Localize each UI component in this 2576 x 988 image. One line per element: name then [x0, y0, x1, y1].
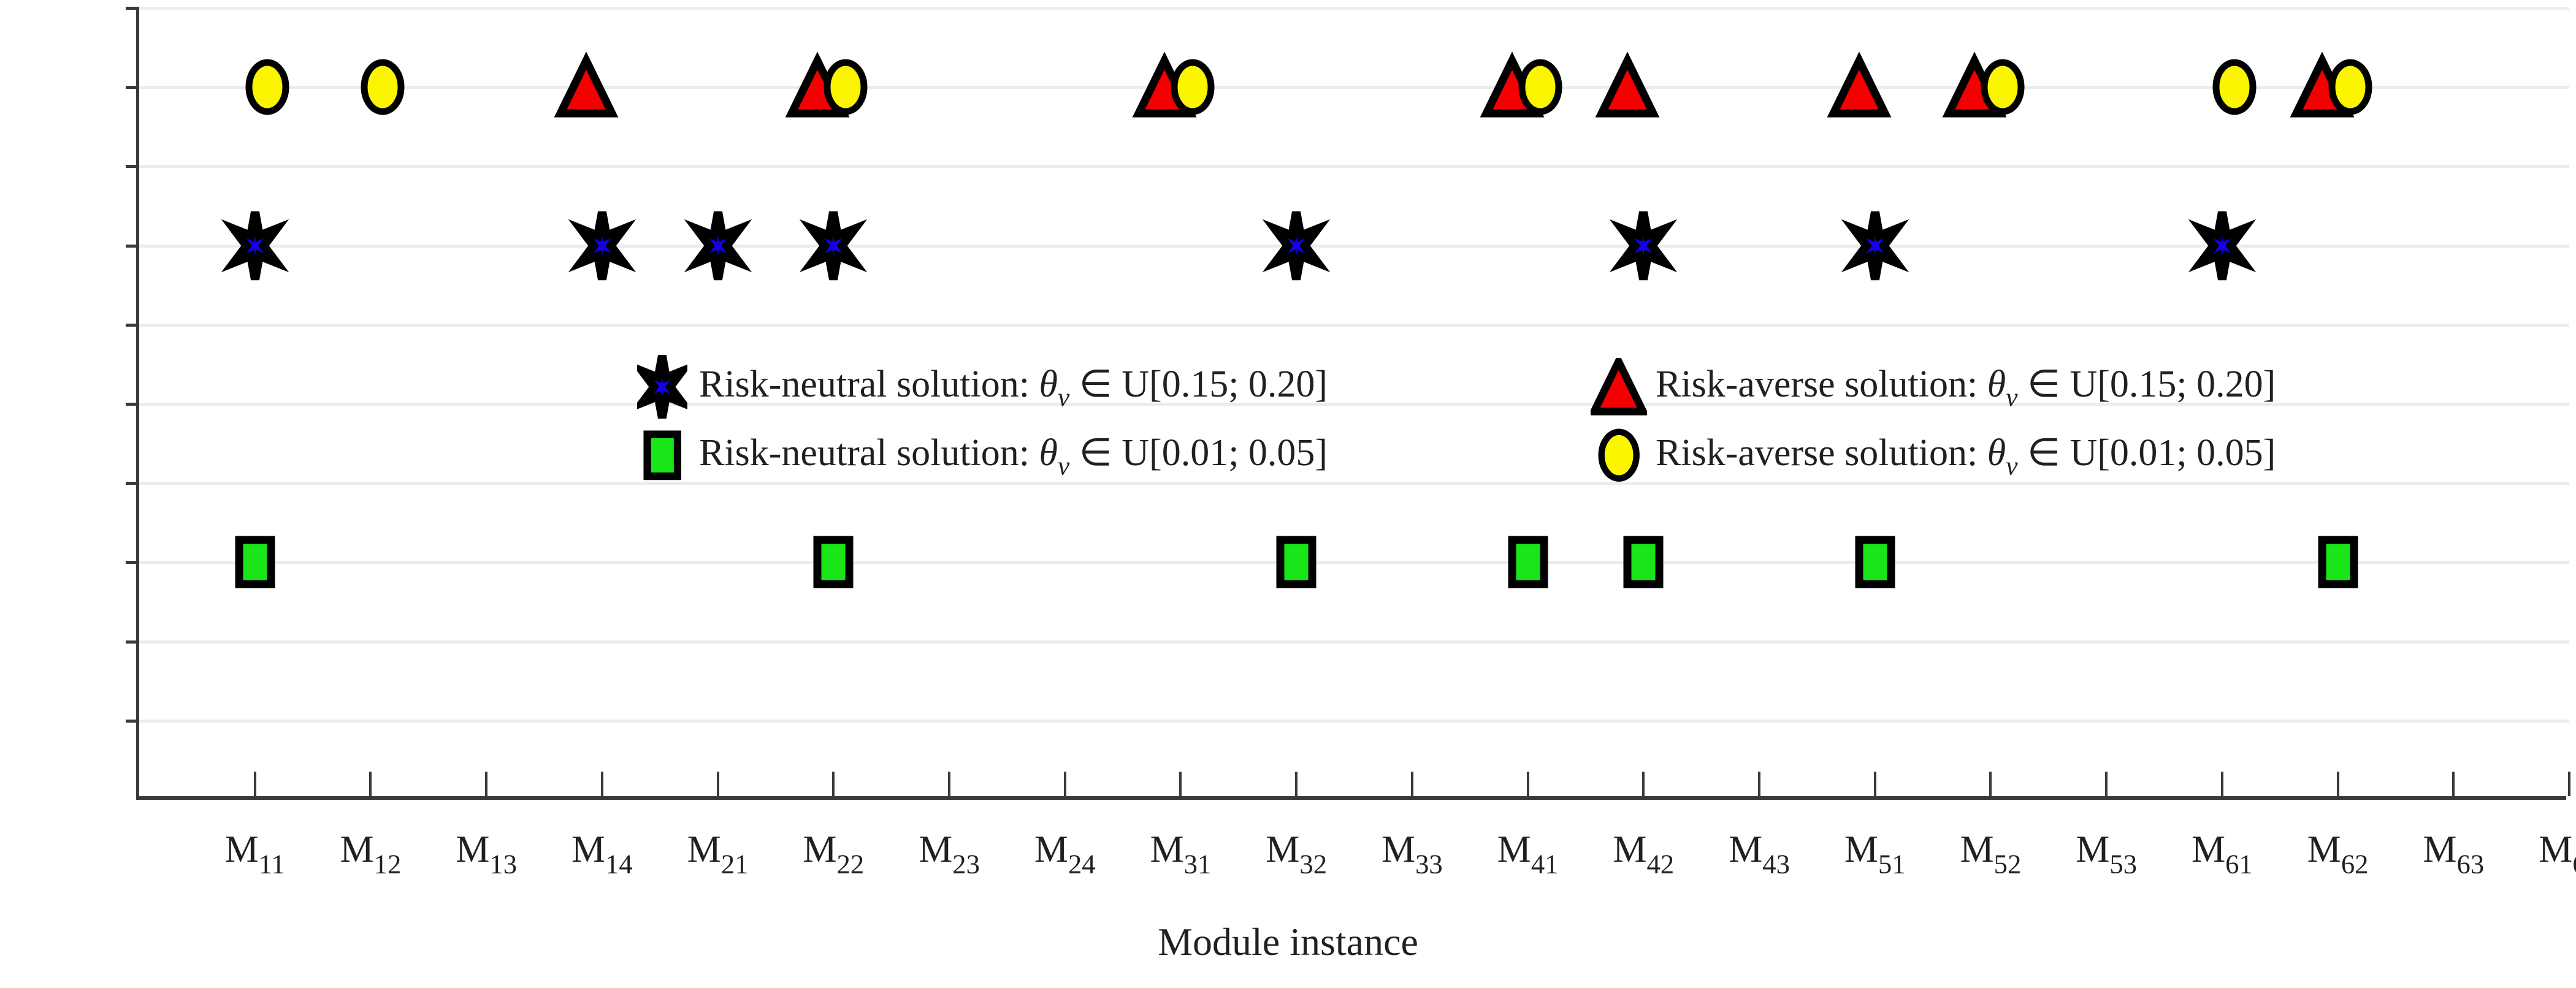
square-marker — [1855, 536, 1895, 588]
x-axis-tick — [1758, 772, 1760, 796]
circle-marker — [2328, 59, 2372, 115]
legend-entry[interactable]: Risk-averse solution: θv ∈ U[0.01; 0.05] — [1582, 428, 2539, 482]
gridline — [139, 640, 2569, 644]
star6-marker — [229, 212, 281, 279]
triangle-marker — [557, 57, 616, 117]
triangle-marker — [1582, 358, 1656, 415]
x-axis-tick — [2105, 772, 2108, 796]
star6-marker — [807, 212, 860, 279]
gridline — [139, 86, 2569, 89]
square-marker — [2318, 536, 2358, 588]
legend-row: Risk-neutral solution: θv ∈ U[0.01; 0.05… — [625, 421, 2539, 490]
x-axis-tick — [601, 772, 603, 796]
y-axis-tick — [126, 245, 139, 248]
square-marker — [625, 430, 699, 481]
y-axis-tick — [126, 720, 139, 723]
square-marker — [1276, 536, 1317, 588]
circle-marker — [1981, 59, 2025, 115]
star6-marker — [1849, 212, 1901, 279]
star6-marker — [1617, 212, 1670, 279]
gridline — [139, 720, 2569, 723]
x-axis-tick-label: M63 — [2490, 829, 2576, 884]
chart-figure: Supply volume (%) 0102030405060708090100… — [0, 0, 2576, 988]
x-axis-tick — [2337, 772, 2339, 796]
chart-legend: Risk-neutral solution: θv ∈ U[0.15; 0.20… — [625, 352, 2539, 490]
gridline — [139, 324, 2569, 327]
square-marker — [235, 536, 275, 588]
x-axis-tick — [1874, 772, 1876, 796]
x-axis-tick — [485, 772, 487, 796]
circle-marker — [245, 59, 289, 115]
x-axis-tick — [1411, 772, 1413, 796]
x-axis-tick — [832, 772, 835, 796]
legend-entry[interactable]: Risk-neutral solution: θv ∈ U[0.01; 0.05… — [625, 430, 1582, 482]
circle-marker — [2212, 59, 2257, 115]
circle-marker — [1582, 428, 1656, 482]
x-axis-tick — [1295, 772, 1298, 796]
gridline — [139, 7, 2569, 10]
x-axis-tick — [1527, 772, 1529, 796]
x-axis-tick — [717, 772, 719, 796]
x-axis-tick — [254, 772, 256, 796]
legend-label: Risk-averse solution: θv ∈ U[0.15; 0.20] — [1656, 361, 2276, 413]
square-marker — [813, 536, 854, 588]
circle-marker — [824, 59, 868, 115]
star6-marker — [692, 212, 744, 279]
legend-row: Risk-neutral solution: θv ∈ U[0.15; 0.20… — [625, 352, 2539, 421]
x-axis-tick — [1989, 772, 1992, 796]
star6-marker — [576, 212, 629, 279]
square-marker — [1508, 536, 1548, 588]
y-axis-tick — [126, 403, 139, 406]
y-axis-tick — [126, 640, 139, 644]
legend-label: Risk-neutral solution: θv ∈ U[0.01; 0.05… — [699, 430, 1328, 482]
legend-entry[interactable]: Risk-averse solution: θv ∈ U[0.15; 0.20] — [1582, 358, 2539, 415]
triangle-marker — [1598, 57, 1657, 117]
circle-marker — [361, 59, 405, 115]
x-axis-tick — [369, 772, 372, 796]
circle-marker — [1171, 59, 1215, 115]
star6-marker — [625, 355, 699, 419]
star6-marker — [2196, 212, 2249, 279]
y-axis-tick — [126, 86, 139, 89]
y-axis-tick — [126, 165, 139, 168]
y-axis-tick — [126, 561, 139, 564]
gridline — [139, 165, 2569, 168]
legend-entry[interactable]: Risk-neutral solution: θv ∈ U[0.15; 0.20… — [625, 355, 1582, 419]
legend-label: Risk-neutral solution: θv ∈ U[0.15; 0.20… — [699, 361, 1328, 413]
x-axis-title: Module instance — [0, 919, 2576, 965]
x-axis-tick — [1642, 772, 1645, 796]
y-axis-tick — [126, 7, 139, 10]
x-axis-tick — [2568, 772, 2570, 796]
y-axis-tick — [126, 324, 139, 327]
legend-label: Risk-averse solution: θv ∈ U[0.01; 0.05] — [1656, 430, 2276, 482]
y-axis-tick — [126, 482, 139, 485]
x-axis-tick — [2221, 772, 2223, 796]
gridline — [139, 561, 2569, 564]
x-axis-tick — [948, 772, 950, 796]
circle-marker — [1518, 59, 1562, 115]
x-axis-tick — [1064, 772, 1066, 796]
x-axis-tick — [1179, 772, 1182, 796]
star6-marker — [1270, 212, 1323, 279]
triangle-marker — [1830, 57, 1889, 117]
square-marker — [1623, 536, 1664, 588]
x-axis-tick — [2452, 772, 2455, 796]
